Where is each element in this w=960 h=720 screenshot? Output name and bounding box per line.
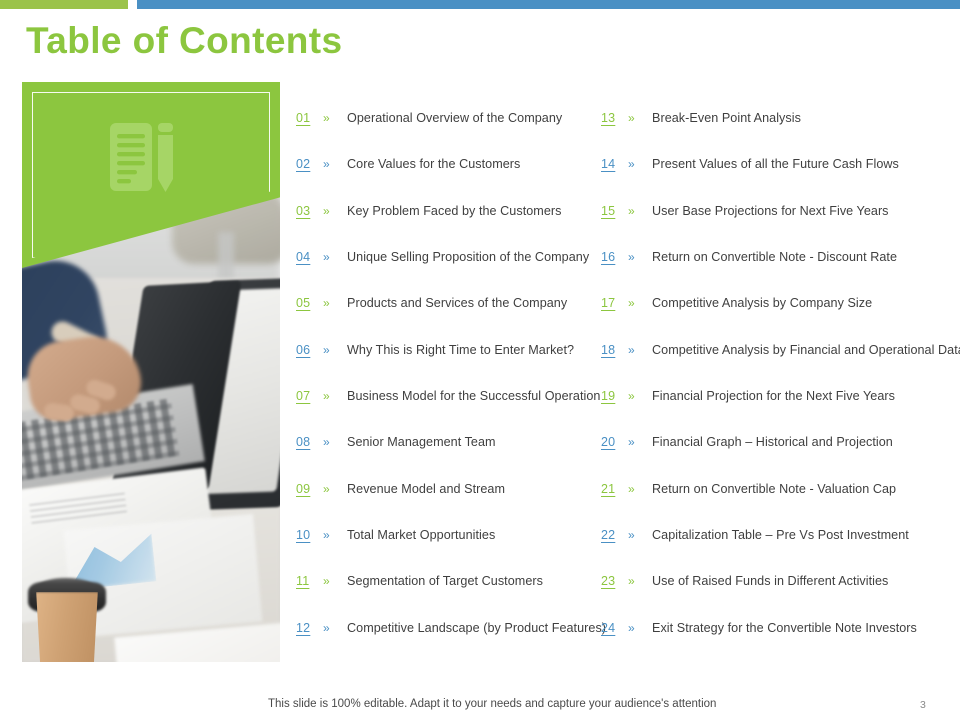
toc-item[interactable]: 21»Return on Convertible Note - Valuatio… xyxy=(601,481,948,527)
double-chevron-icon: » xyxy=(623,110,652,127)
toc-item-number: 11 xyxy=(296,573,318,590)
toc-item-number: 17 xyxy=(601,295,623,312)
toc-item[interactable]: 04»Unique Selling Proposition of the Com… xyxy=(296,249,601,295)
toc-item-label: Return on Convertible Note - Valuation C… xyxy=(652,481,948,498)
double-chevron-icon: » xyxy=(318,110,347,127)
toc-item-number: 19 xyxy=(601,388,623,405)
toc-item[interactable]: 15»User Base Projections for Next Five Y… xyxy=(601,203,948,249)
toc-item-label: Use of Raised Funds in Different Activit… xyxy=(652,573,948,590)
toc-item-number: 21 xyxy=(601,481,623,498)
toc-column-right: 13»Break-Even Point Analysis14»Present V… xyxy=(601,110,948,666)
photo-coffee-cup xyxy=(32,592,102,662)
double-chevron-icon: » xyxy=(318,388,347,405)
toc-item[interactable]: 24»Exit Strategy for the Convertible Not… xyxy=(601,620,948,666)
toc-item-number: 18 xyxy=(601,342,623,359)
toc-item-number: 10 xyxy=(296,527,318,544)
toc-item-number: 20 xyxy=(601,434,623,451)
toc-item-number: 07 xyxy=(296,388,318,405)
toc-item[interactable]: 01»Operational Overview of the Company xyxy=(296,110,601,156)
double-chevron-icon: » xyxy=(318,249,347,266)
double-chevron-icon: » xyxy=(318,481,347,498)
double-chevron-icon: » xyxy=(318,527,347,544)
top-bar-green-segment xyxy=(0,0,132,9)
toc-item-number: 23 xyxy=(601,573,623,590)
toc-item-label: Present Values of all the Future Cash Fl… xyxy=(652,156,948,173)
double-chevron-icon: » xyxy=(318,342,347,359)
toc-item-number: 04 xyxy=(296,249,318,266)
top-accent-bar xyxy=(0,0,960,9)
toc-item-number: 08 xyxy=(296,434,318,451)
page-title: Table of Contents xyxy=(26,22,343,59)
double-chevron-icon: » xyxy=(623,295,652,312)
toc-item-label: Capitalization Table – Pre Vs Post Inves… xyxy=(652,527,948,544)
double-chevron-icon: » xyxy=(623,573,652,590)
toc-item-number: 03 xyxy=(296,203,318,220)
double-chevron-icon: » xyxy=(318,203,347,220)
toc-item-label: Financial Graph – Historical and Project… xyxy=(652,434,948,451)
toc-item[interactable]: 06»Why This is Right Time to Enter Marke… xyxy=(296,342,601,388)
toc-item[interactable]: 12»Competitive Landscape (by Product Fea… xyxy=(296,620,601,666)
toc-item-label: Key Problem Faced by the Customers xyxy=(347,203,601,220)
toc-item-label: Products and Services of the Company xyxy=(347,295,601,312)
toc-item-number: 15 xyxy=(601,203,623,220)
toc-item-number: 06 xyxy=(296,342,318,359)
toc-item-label: Return on Convertible Note - Discount Ra… xyxy=(652,249,948,266)
page-number: 3 xyxy=(920,699,926,711)
toc-item-number: 05 xyxy=(296,295,318,312)
double-chevron-icon: » xyxy=(623,388,652,405)
toc-item[interactable]: 17»Competitive Analysis by Company Size xyxy=(601,295,948,341)
toc-item[interactable]: 13»Break-Even Point Analysis xyxy=(601,110,948,156)
double-chevron-icon: » xyxy=(318,434,347,451)
top-bar-notch xyxy=(128,0,137,9)
toc-item[interactable]: 18»Competitive Analysis by Financial and… xyxy=(601,342,948,388)
toc-item-label: Business Model for the Successful Operat… xyxy=(347,388,601,405)
toc-item-label: Competitive Analysis by Company Size xyxy=(652,295,948,312)
toc-item[interactable]: 14»Present Values of all the Future Cash… xyxy=(601,156,948,202)
double-chevron-icon: » xyxy=(623,434,652,451)
toc-item[interactable]: 10»Total Market Opportunities xyxy=(296,527,601,573)
toc-item-label: Core Values for the Customers xyxy=(347,156,601,173)
toc-item-number: 14 xyxy=(601,156,623,173)
slide-canvas: Table of Contents xyxy=(0,0,960,720)
double-chevron-icon: » xyxy=(623,156,652,173)
double-chevron-icon: » xyxy=(623,249,652,266)
footer-note: This slide is 100% editable. Adapt it to… xyxy=(268,698,716,710)
double-chevron-icon: » xyxy=(623,342,652,359)
document-pencil-icon xyxy=(108,120,180,194)
toc-item-label: Competitive Landscape (by Product Featur… xyxy=(347,620,606,637)
toc-column-left: 01»Operational Overview of the Company02… xyxy=(296,110,601,666)
toc-item-label: Unique Selling Proposition of the Compan… xyxy=(347,249,601,266)
toc-item-label: User Base Projections for Next Five Year… xyxy=(652,203,948,220)
toc-item[interactable]: 07»Business Model for the Successful Ope… xyxy=(296,388,601,434)
toc-item[interactable]: 05»Products and Services of the Company xyxy=(296,295,601,341)
toc-item[interactable]: 23»Use of Raised Funds in Different Acti… xyxy=(601,573,948,619)
table-of-contents: 01»Operational Overview of the Company02… xyxy=(296,110,948,666)
double-chevron-icon: » xyxy=(318,156,347,173)
toc-item[interactable]: 16»Return on Convertible Note - Discount… xyxy=(601,249,948,295)
toc-item[interactable]: 08»Senior Management Team xyxy=(296,434,601,480)
toc-item-number: 22 xyxy=(601,527,623,544)
toc-item[interactable]: 09»Revenue Model and Stream xyxy=(296,481,601,527)
top-bar-blue-segment xyxy=(132,0,960,9)
toc-item-label: Exit Strategy for the Convertible Note I… xyxy=(652,620,948,637)
toc-item-label: Senior Management Team xyxy=(347,434,601,451)
toc-item-label: Total Market Opportunities xyxy=(347,527,601,544)
toc-item-label: Why This is Right Time to Enter Market? xyxy=(347,342,601,359)
toc-item-label: Segmentation of Target Customers xyxy=(347,573,601,590)
toc-item[interactable]: 19»Financial Projection for the Next Fiv… xyxy=(601,388,948,434)
double-chevron-icon: » xyxy=(318,295,347,312)
toc-item-number: 09 xyxy=(296,481,318,498)
toc-item-label: Financial Projection for the Next Five Y… xyxy=(652,388,948,405)
toc-item-label: Operational Overview of the Company xyxy=(347,110,601,127)
double-chevron-icon: » xyxy=(318,573,347,590)
toc-item-number: 24 xyxy=(601,620,623,637)
double-chevron-icon: » xyxy=(623,203,652,220)
double-chevron-icon: » xyxy=(623,620,652,637)
double-chevron-icon: » xyxy=(623,527,652,544)
toc-item-number: 13 xyxy=(601,110,623,127)
toc-item[interactable]: 03»Key Problem Faced by the Customers xyxy=(296,203,601,249)
double-chevron-icon: » xyxy=(623,481,652,498)
double-chevron-icon: » xyxy=(318,620,347,637)
toc-item-number: 01 xyxy=(296,110,318,127)
toc-item-number: 12 xyxy=(296,620,318,637)
toc-item-number: 16 xyxy=(601,249,623,266)
toc-item[interactable]: 11»Segmentation of Target Customers xyxy=(296,573,601,619)
toc-item[interactable]: 02»Core Values for the Customers xyxy=(296,156,601,202)
toc-item-label: Revenue Model and Stream xyxy=(347,481,601,498)
toc-item-label: Competitive Analysis by Financial and Op… xyxy=(652,342,960,359)
toc-item[interactable]: 20»Financial Graph – Historical and Proj… xyxy=(601,434,948,480)
toc-item-label: Break-Even Point Analysis xyxy=(652,110,948,127)
toc-item-number: 02 xyxy=(296,156,318,173)
toc-item[interactable]: 22»Capitalization Table – Pre Vs Post In… xyxy=(601,527,948,573)
